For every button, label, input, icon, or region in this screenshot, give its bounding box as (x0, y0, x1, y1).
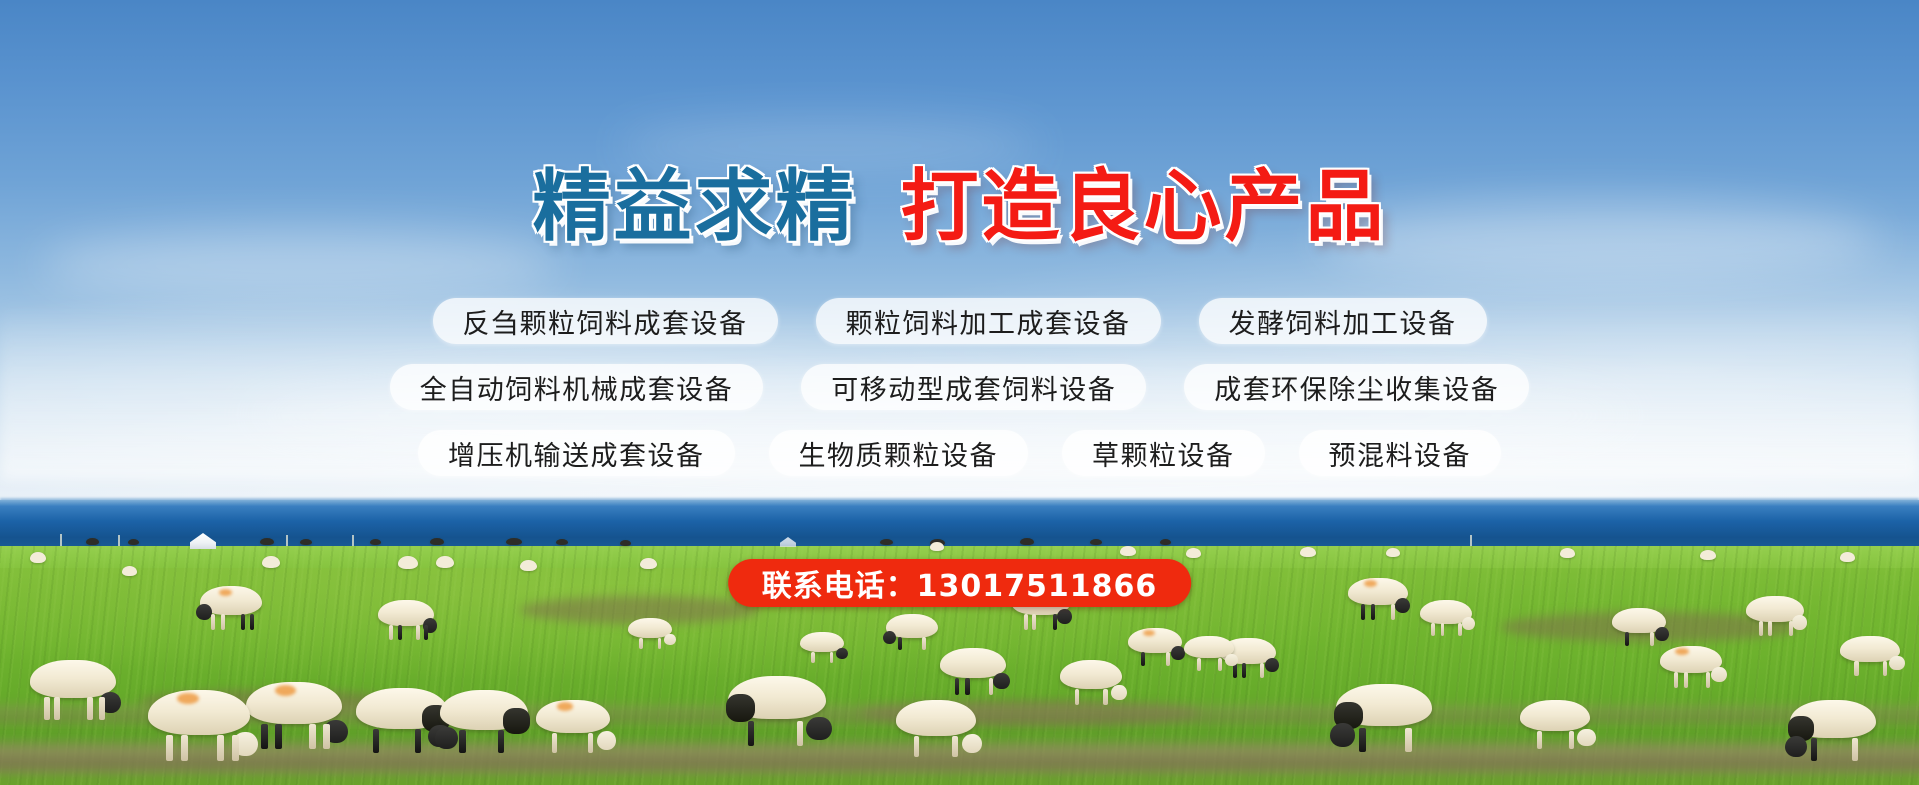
product-pill-row-1: 反刍颗粒饲料成套设备 颗粒饲料加工成套设备 发酵饲料加工设备 (0, 298, 1919, 344)
distant-animal (370, 539, 381, 545)
fence-post (118, 535, 120, 546)
sheep-leg (1441, 623, 1445, 637)
fence-post (60, 534, 62, 546)
sheep-leg (1361, 604, 1365, 620)
sheep-leg (309, 724, 316, 748)
headline-part-2: 打造良心产品 (901, 162, 1387, 252)
sheep-leg (1103, 689, 1107, 706)
sheep-leg (1811, 738, 1817, 760)
distant-sheep (1560, 548, 1575, 558)
sheep-leg (1789, 621, 1793, 636)
sheep-leg (1650, 632, 1654, 646)
sheep-leg (1569, 731, 1574, 749)
sheep-leg (955, 678, 960, 695)
sheep-leg (1674, 672, 1678, 688)
sheep-leg (952, 736, 958, 757)
sheep-leg (588, 733, 593, 752)
sheep (246, 682, 342, 750)
sheep (536, 700, 610, 754)
contact-phone-badge[interactable]: 联系电话：13017511866 (728, 559, 1192, 607)
sheep (1184, 636, 1234, 672)
sheep-body (896, 700, 976, 736)
distant-animal (260, 538, 274, 545)
sheep-leg (1359, 728, 1366, 752)
sheep-head (883, 631, 897, 644)
sheep-head (1111, 685, 1127, 701)
distant-sheep (30, 552, 46, 563)
distant-animal (506, 538, 522, 545)
sheep-leg (221, 614, 225, 631)
distant-sheep (1186, 548, 1201, 558)
product-pill-rows: 反刍颗粒饲料成套设备 颗粒饲料加工成套设备 发酵饲料加工设备 全自动饲料机械成套… (0, 298, 1919, 496)
sheep-body (30, 660, 116, 698)
sheep (800, 632, 844, 664)
product-pill[interactable]: 生物质颗粒设备 (769, 430, 1029, 476)
sheep-leg (44, 697, 50, 719)
sheep-paint-mark (1675, 648, 1689, 655)
sheep-head (597, 731, 616, 749)
sheep (628, 618, 672, 650)
sheep-paint-mark (1364, 580, 1377, 587)
sheep-leg (398, 625, 402, 640)
sheep-leg (1458, 623, 1462, 637)
sheep-leg (922, 637, 926, 651)
sheep-leg (1260, 663, 1264, 678)
sheep-head (196, 604, 212, 620)
sheep-leg (1166, 652, 1170, 666)
sheep-leg (415, 729, 421, 753)
sheep-leg (166, 735, 173, 761)
sheep-paint-mark (1143, 630, 1155, 636)
sheep-leg (1197, 658, 1201, 671)
sheep-leg (1032, 614, 1036, 630)
sheep-leg (1684, 672, 1688, 688)
sheep-leg (99, 697, 105, 719)
sheep-leg (552, 733, 557, 752)
sheep-leg (389, 625, 393, 640)
distant-animal (620, 540, 631, 546)
sheep-leg (1053, 614, 1057, 630)
product-pill[interactable]: 全自动饲料机械成套设备 (390, 364, 764, 410)
sheep-leg (275, 724, 282, 748)
sheep-leg (748, 721, 755, 746)
sheep-leg (1625, 632, 1629, 646)
sheep-leg (830, 652, 833, 664)
sheep-body (1520, 700, 1590, 731)
sheep-leg (1218, 658, 1222, 671)
distant-sheep (122, 566, 137, 576)
sheep-leg (459, 730, 465, 753)
sheep-leg (1405, 728, 1412, 752)
sheep-head (1577, 729, 1595, 746)
sheep (1336, 684, 1432, 752)
sheep-leg (232, 735, 239, 761)
sheep-rump (503, 708, 529, 734)
sheep-head (806, 717, 831, 741)
distant-animal (300, 539, 312, 545)
sheep (1520, 700, 1590, 750)
headline: 精益求精打造良心产品 (0, 168, 1919, 246)
sheep-body (1060, 660, 1122, 689)
sheep-leg (1024, 614, 1028, 630)
sheep-leg (1431, 623, 1435, 637)
sheep (148, 690, 250, 762)
distant-animal (1160, 539, 1171, 545)
product-pill[interactable]: 颗粒饲料加工成套设备 (816, 298, 1161, 344)
distant-animal (86, 538, 99, 545)
sheep-leg (1371, 604, 1375, 620)
distant-animal (1090, 539, 1102, 545)
sheep-head (1711, 667, 1727, 682)
fence-post (1470, 535, 1472, 546)
sheep-leg (1768, 621, 1772, 636)
sheep-head (435, 727, 458, 749)
fence-post (352, 535, 354, 546)
sheep-leg (181, 735, 188, 761)
sheep-leg (87, 697, 93, 719)
sheep-leg (1883, 661, 1887, 676)
distant-sheep (1386, 548, 1400, 557)
sheep-leg (797, 721, 804, 746)
sheep-head (1655, 627, 1669, 641)
sheep-head (1462, 617, 1476, 630)
sheep-leg (898, 637, 902, 651)
sheep-head (993, 673, 1010, 689)
sheep-leg (1706, 672, 1710, 688)
sheep-head (962, 734, 983, 754)
sheep-leg (1391, 604, 1395, 620)
sheep (1060, 660, 1122, 706)
distant-sheep (1120, 546, 1136, 556)
sheep-leg (261, 724, 268, 748)
sheep-leg (811, 652, 814, 664)
distant-sheep (640, 558, 657, 569)
distant-sheep (1700, 550, 1716, 560)
sheep-leg (1537, 731, 1542, 749)
sheep-head (836, 648, 847, 659)
sheep-leg (424, 625, 428, 640)
sheep-leg (1759, 621, 1763, 636)
distant-animal (430, 538, 444, 545)
sheep (356, 688, 448, 754)
distant-animal (556, 539, 568, 545)
distant-animal (128, 539, 139, 545)
sheep (896, 700, 976, 758)
sheep (1128, 628, 1182, 668)
distant-sheep (262, 556, 280, 568)
sheep-leg (1852, 738, 1858, 760)
distant-sheep (520, 560, 537, 571)
product-pill[interactable]: 增压机输送成套设备 (418, 430, 735, 476)
sheep-leg (211, 614, 215, 631)
sheep (1660, 646, 1722, 690)
sheep-leg (416, 625, 420, 640)
sheep-body (536, 700, 610, 733)
sheep-head (1225, 654, 1238, 666)
sheep (1746, 596, 1804, 638)
product-pill[interactable]: 反刍颗粒饲料成套设备 (433, 298, 778, 344)
sheep-paint-mark (275, 685, 296, 696)
sheep (1612, 608, 1666, 648)
distant-animal (1020, 538, 1034, 545)
sheep-leg (54, 697, 60, 719)
sheep (940, 648, 1006, 696)
sheep-leg (1242, 663, 1246, 678)
distant-sheep (1300, 547, 1316, 557)
sheep (886, 614, 938, 652)
sheep-head (1330, 723, 1355, 746)
sheep (1840, 636, 1900, 678)
sheep (1790, 700, 1876, 762)
sheep-leg (639, 638, 642, 650)
sheep-leg (965, 678, 970, 695)
sheep-head (1057, 609, 1072, 624)
sheep-leg (658, 638, 661, 650)
sheep-head (1889, 656, 1905, 670)
sheep (378, 600, 434, 642)
sheep-head (664, 634, 675, 645)
sheep-leg (323, 724, 330, 748)
banner-stage: 精益求精打造良心产品 反刍颗粒饲料成套设备 颗粒饲料加工成套设备 发酵饲料加工设… (0, 0, 1919, 785)
sheep-paint-mark (557, 702, 573, 711)
product-pill[interactable]: 发酵饲料加工设备 (1199, 298, 1487, 344)
sheep (1348, 578, 1408, 622)
sheep-leg (373, 729, 379, 753)
headline-part-1: 精益求精 (532, 162, 856, 252)
sheep (200, 586, 262, 632)
distant-sheep (398, 556, 418, 569)
sheep-head (1785, 736, 1807, 757)
sheep-leg (989, 678, 994, 695)
sheep (728, 676, 826, 746)
product-pill[interactable]: 成套环保除尘收集设备 (1184, 364, 1529, 410)
sheep-leg (1075, 689, 1079, 706)
distant-animal (880, 539, 893, 545)
sheep-body (148, 690, 250, 735)
sheep (440, 690, 528, 754)
sheep-leg (250, 614, 254, 631)
sheep (30, 660, 116, 722)
sheep (1420, 600, 1472, 638)
distant-sheep (1840, 552, 1855, 562)
distant-sheep (930, 542, 944, 551)
sheep-leg (217, 735, 224, 761)
sheep-leg (498, 730, 504, 753)
fence-post (286, 535, 288, 546)
product-pill-row-2: 全自动饲料机械成套设备 可移动型成套饲料设备 成套环保除尘收集设备 (0, 364, 1919, 410)
product-pill-row-3: 增压机输送成套设备 生物质颗粒设备 草颗粒设备 预混料设备 (0, 430, 1919, 476)
distant-sheep (436, 556, 454, 568)
sheep-leg (1854, 661, 1858, 676)
sheep-head (1792, 615, 1807, 629)
sheep-leg (914, 736, 920, 757)
sheep-leg (1141, 652, 1145, 666)
product-pill[interactable]: 可移动型成套饲料设备 (801, 364, 1146, 410)
sheep-rump (726, 694, 755, 722)
sheep-leg (241, 614, 245, 631)
product-pill[interactable]: 预混料设备 (1299, 430, 1502, 476)
product-pill[interactable]: 草颗粒设备 (1062, 430, 1265, 476)
